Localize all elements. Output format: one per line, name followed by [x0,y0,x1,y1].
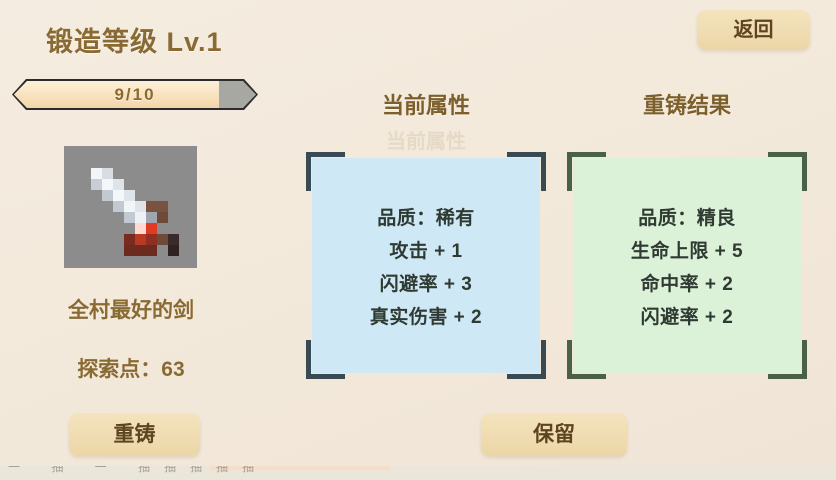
explore-points: 探索点：63 [0,353,262,383]
app-screen: 锻造等级 Lv.1 9/10 返回 [0,0,836,480]
stat-line: 闪避率 + 3 [380,269,473,296]
current-attributes-list: 品质：稀有 攻击 + 1 闪避率 + 3 真实伤害 + 2 [312,158,540,373]
sword-icon-art [64,146,197,268]
stat-line: 生命上限 + 5 [631,236,743,263]
stat-line: 真实伤害 + 2 [370,302,482,329]
bottom-cutoff-strip: 一 抽 一 抽抽抽抽抽 [0,466,836,480]
stat-line: 命中率 + 2 [641,269,734,296]
ghost-text: 当前属性 [312,125,540,154]
sword-icon [64,146,197,268]
recast-result-list: 品质：精良 生命上限 + 5 命中率 + 2 闪避率 + 2 [573,158,801,373]
stat-line: 品质：稀有 [377,203,475,230]
recast-result-panel: 品质：精良 生命上限 + 5 命中率 + 2 闪避率 + 2 [573,158,801,373]
recast-button[interactable]: 重铸 [69,413,200,456]
stat-line: 品质：精良 [638,203,736,230]
stat-line: 攻击 + 1 [389,236,462,263]
forge-level-progress-bar: 9/10 [12,79,258,110]
item-name: 全村最好的剑 [0,294,262,324]
return-button[interactable]: 返回 [697,10,810,50]
current-attributes-title: 当前属性 [312,88,540,120]
forge-screen-stage: 锻造等级 Lv.1 9/10 返回 [0,0,836,466]
current-attributes-panel: 品质：稀有 攻击 + 1 闪避率 + 3 真实伤害 + 2 [312,158,540,373]
page-title: 锻造等级 Lv.1 [46,20,223,59]
bottom-cutoff-text: 一 抽 一 抽抽抽抽抽 [8,466,268,475]
progress-bar-label: 9/10 [12,79,258,110]
keep-button[interactable]: 保留 [481,413,627,456]
recast-result-title: 重铸结果 [573,88,801,120]
stat-line: 闪避率 + 2 [641,302,734,329]
